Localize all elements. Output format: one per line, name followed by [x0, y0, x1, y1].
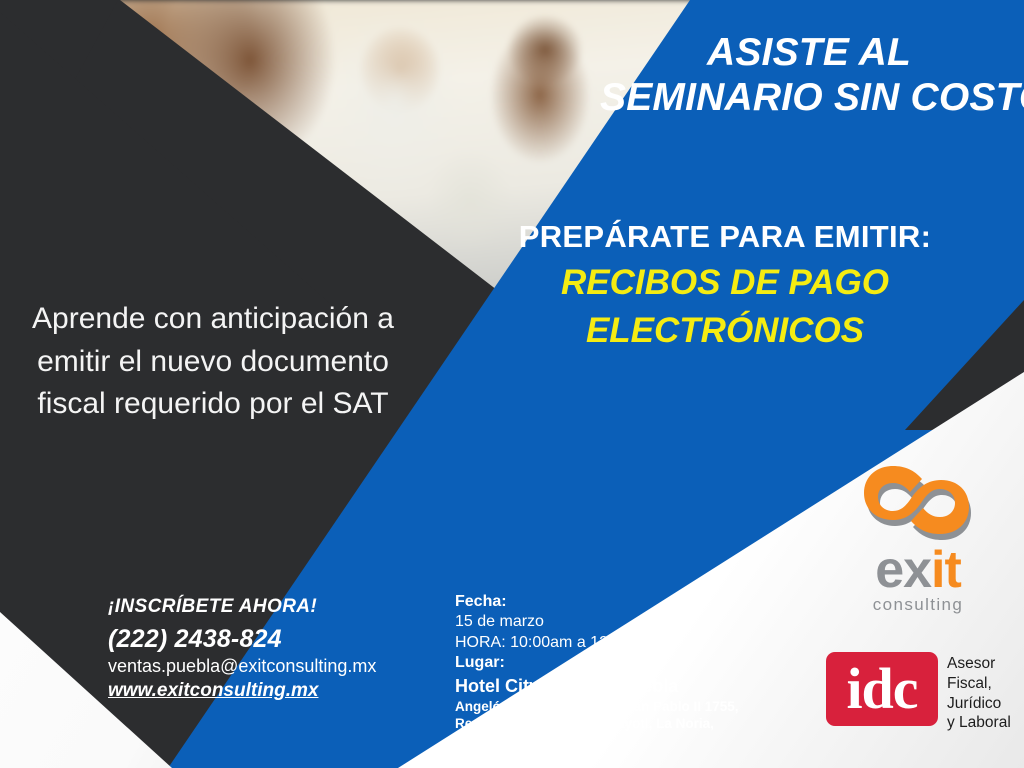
headline-line-2: SEMINARIO SIN COSTO [600, 75, 1018, 120]
address-line-2: Reserva Territorial, Atlixcáyotl, La Nor… [455, 715, 785, 733]
register-now-label: ¡INSCRÍBETE AHORA! [108, 596, 438, 618]
idc-tagline: Asesor Fiscal, Jurídico y Laboral [947, 652, 1011, 733]
date-value: 15 de marzo [455, 612, 785, 632]
lead-paragraph: Aprende con anticipación a emitir el nue… [18, 298, 408, 426]
date-label: Fecha: [455, 592, 785, 612]
phone-number[interactable]: (222) 2438-824 [108, 625, 438, 654]
address-line-1: Angelópolis Salón 2, Cto Juan Pablo II 1… [455, 698, 785, 716]
exit-infinity-icon [838, 452, 998, 552]
email-address[interactable]: ventas.puebla@exitconsulting.mx [108, 656, 438, 677]
subheadline-prepare: PREPÁRATE PARA EMITIR: [452, 218, 998, 255]
seminar-flyer: ASISTE AL SEMINARIO SIN COSTO PREPÁRATE … [0, 0, 1024, 768]
idc-mark-text: idc [846, 660, 917, 718]
idc-tagline-line-3: Jurídico [947, 694, 1011, 714]
subheadline-highlight-line-2: ELECTRÓNICOS [452, 310, 998, 351]
subheadline: PREPÁRATE PARA EMITIR: RECIBOS DE PAGO E… [452, 218, 998, 352]
website-link[interactable]: www.exitconsulting.mx [108, 680, 318, 702]
idc-mark-block: idc [826, 652, 938, 726]
exit-wordmark: exit [838, 548, 998, 593]
subheadline-highlight-line-1: RECIBOS DE PAGO [452, 262, 998, 303]
idc-tagline-line-2: Fiscal, [947, 674, 1011, 694]
event-details: Fecha: 15 de marzo HORA: 10:00am a 12:30… [455, 592, 785, 751]
address-line-3: 72410 Puebla [455, 733, 785, 751]
idc-tagline-line-1: Asesor [947, 654, 1011, 674]
headline-line-1: ASISTE AL [707, 31, 911, 74]
time-value: HORA: 10:00am a 12:30pm [455, 633, 785, 653]
venue-name: Hotel City Express Puebla [455, 675, 785, 698]
idc-logo: idc Asesor Fiscal, Jurídico y Laboral [826, 652, 1011, 733]
exit-wordmark-ex: ex [875, 541, 931, 599]
exit-wordmark-it: it [931, 541, 961, 599]
idc-tagline-line-4: y Laboral [947, 713, 1011, 733]
place-label: Lugar: [455, 653, 785, 673]
exit-consulting-logo: exit consulting [838, 452, 998, 624]
headline: ASISTE AL SEMINARIO SIN COSTO [600, 30, 1018, 120]
exit-logo-tagline: consulting [838, 595, 998, 615]
contact-block: ¡INSCRÍBETE AHORA! (222) 2438-824 ventas… [108, 596, 438, 702]
